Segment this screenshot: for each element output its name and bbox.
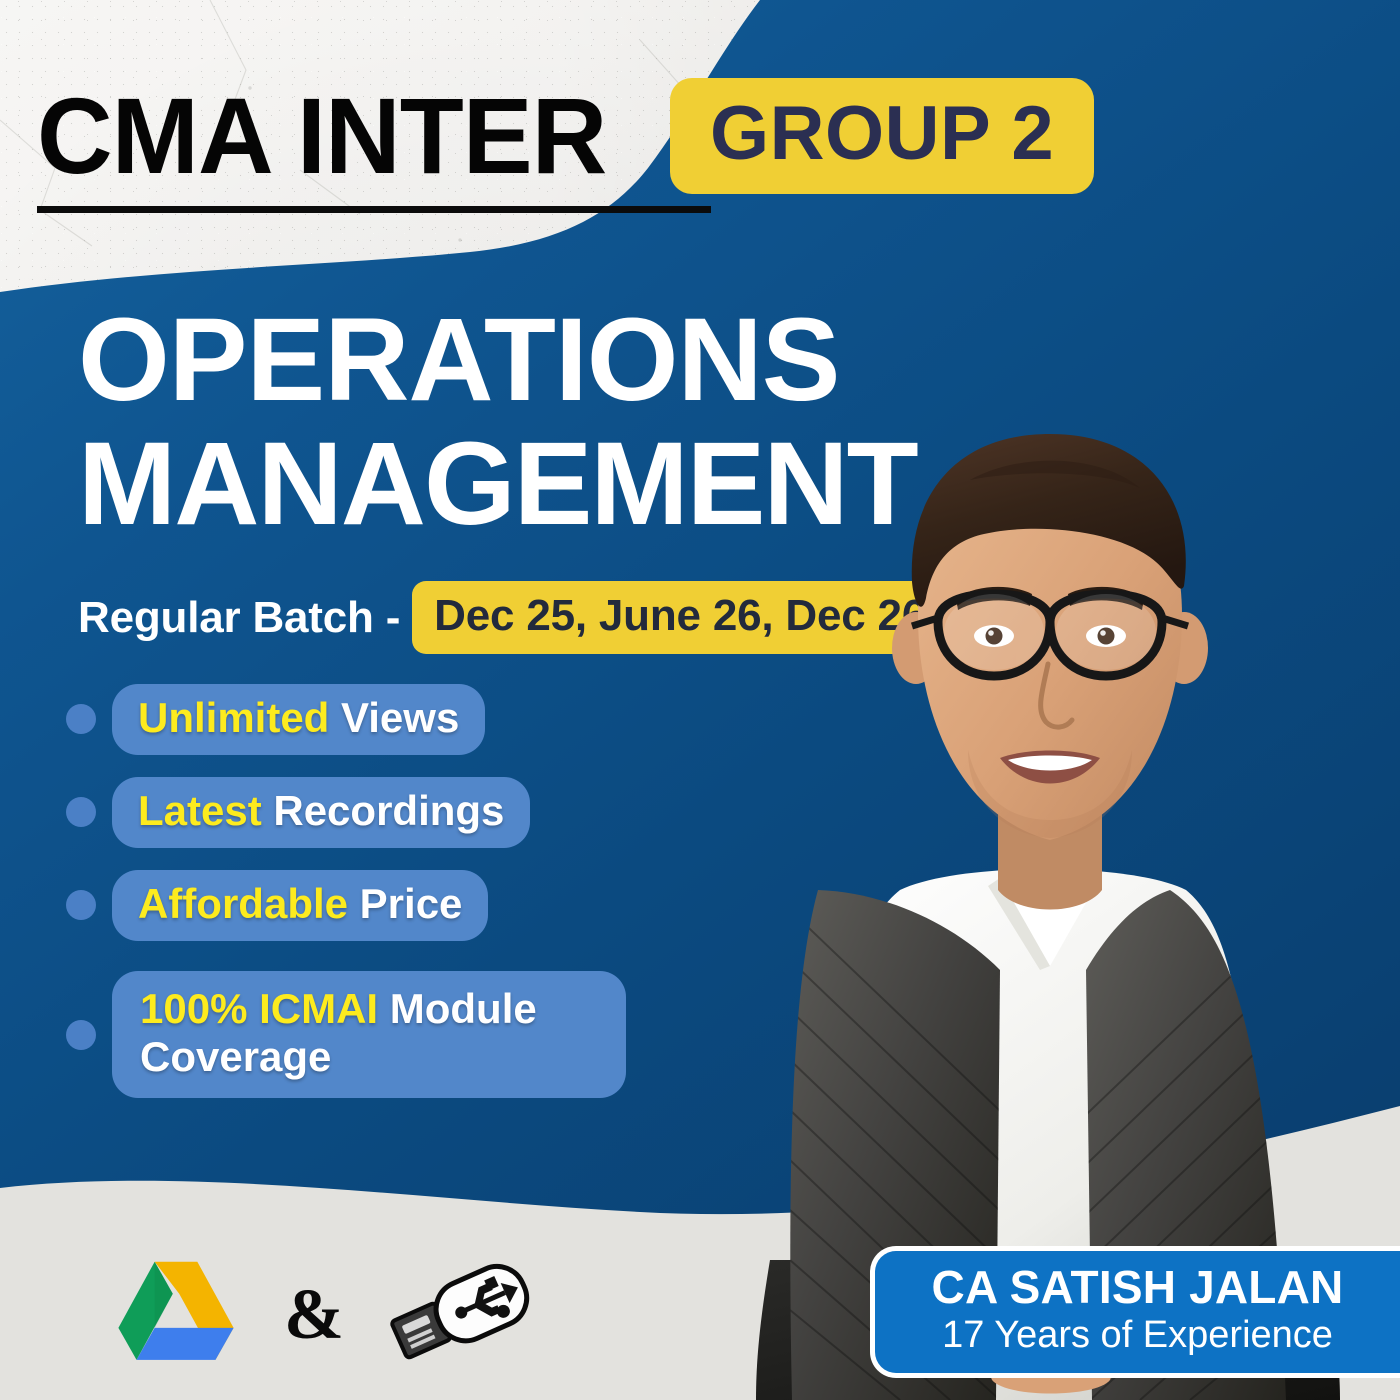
feature-pill: Latest Recordings [112, 777, 530, 848]
feature-item: Unlimited Views [66, 684, 626, 755]
feature-pill: Affordable Price [112, 870, 488, 941]
header-row: CMA INTER GROUP 2 [37, 72, 1167, 200]
bullet-dot-icon [66, 704, 96, 734]
batch-label: Regular Batch - [78, 593, 400, 643]
ampersand-separator: & [284, 1278, 344, 1350]
google-drive-icon [112, 1257, 240, 1371]
instructor-badge: CA SATISH JALAN 17 Years of Experience [870, 1246, 1400, 1378]
page-title: CMA INTER [37, 82, 606, 190]
feature-text: 100% ICMAI Module Coverage [140, 985, 537, 1080]
feature-pill: 100% ICMAI Module Coverage [112, 971, 626, 1099]
instructor-name: CA SATISH JALAN [891, 1263, 1384, 1313]
group-badge: GROUP 2 [670, 78, 1094, 194]
feature-item: 100% ICMAI Module Coverage [66, 971, 626, 1099]
feature-rest: Views [329, 694, 459, 741]
feature-text: Latest Recordings [138, 787, 504, 834]
feature-highlight: Unlimited [138, 694, 329, 741]
feature-item: Latest Recordings [66, 777, 626, 848]
bullet-dot-icon [66, 890, 96, 920]
feature-rest: Price [348, 880, 462, 927]
group-badge-label: GROUP 2 [710, 96, 1054, 172]
bullet-dot-icon [66, 797, 96, 827]
instructor-experience: 17 Years of Experience [891, 1314, 1384, 1357]
feature-pill: Unlimited Views [112, 684, 485, 755]
feature-highlight: 100% ICMAI [140, 985, 378, 1032]
feature-item: Affordable Price [66, 870, 626, 941]
feature-highlight: Affordable [138, 880, 348, 927]
feature-text: Affordable Price [138, 880, 462, 927]
bullet-dot-icon [66, 1020, 96, 1050]
feature-rest: Recordings [262, 787, 505, 834]
feature-highlight: Latest [138, 787, 262, 834]
features-list: Unlimited Views Latest Recordings Afford… [66, 684, 626, 1098]
feature-text: Unlimited Views [138, 694, 459, 741]
usb-pendrive-icon [388, 1256, 538, 1372]
instructor-photo [700, 330, 1400, 1400]
delivery-options: & [112, 1256, 538, 1372]
poster-canvas: CMA INTER GROUP 2 OPERATIONS MANAGEMENT … [0, 0, 1400, 1400]
title-underline-rule [37, 206, 711, 213]
